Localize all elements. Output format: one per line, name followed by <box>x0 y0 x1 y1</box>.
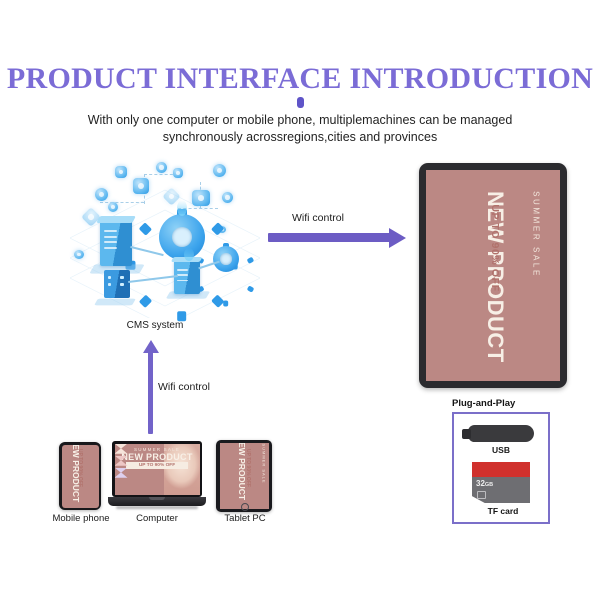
network-node-icon <box>173 168 183 178</box>
wifi-control-label-vertical: Wifi control <box>158 381 210 393</box>
device-label-mobile-phone: Mobile phone <box>52 513 110 524</box>
laptop-shadow <box>116 506 198 509</box>
cms-system-label: CMS system <box>105 320 205 331</box>
data-node-icon <box>133 178 149 194</box>
laptop-discount-text: UP TO 90% OFF <box>126 462 187 469</box>
computer-device: SUMMER SALE NEW PRODUCT UP TO 90% OFF <box>108 441 206 513</box>
plug-and-play-box: USB 32GB TF card <box>452 412 550 524</box>
tf-card-icon: 32GB <box>472 462 530 503</box>
device-label-computer: Computer <box>128 513 186 524</box>
tf-card-label: TF card <box>464 506 542 516</box>
display-discount-text: UP TO 90% OFF <box>489 188 501 308</box>
tf-capacity: 32GB <box>476 479 493 488</box>
document-node-icon <box>192 190 210 206</box>
network-node-icon <box>108 202 118 212</box>
usb-drive-icon <box>468 425 534 442</box>
wifi-control-arrow-horizontal <box>268 233 390 242</box>
subtitle-line-1: With only one computer or mobile phone, … <box>88 113 457 127</box>
plug-and-play-title: Plug-and-Play <box>452 398 515 409</box>
cloud-node-icon <box>95 188 108 201</box>
cloud-node-icon <box>74 250 84 259</box>
cloud-node-icon <box>213 164 226 177</box>
tablet-pc-device: NEW PRODUCT UP TO 90% OFF SUMMER SALE <box>216 440 272 512</box>
infographic-canvas: PRODUCT INTERFACE INTRODUCTION With only… <box>0 0 600 600</box>
display-screen: NEW PRODUCT UP TO 90% OFF SUMMER SALE <box>426 170 560 381</box>
gear-icon <box>213 246 239 272</box>
wifi-control-label-horizontal: Wifi control <box>292 212 344 224</box>
digital-signage-display: NEW PRODUCT UP TO 90% OFF SUMMER SALE <box>419 163 567 388</box>
tablet-summer-sale-text: SUMMER SALE <box>261 443 266 500</box>
router-icon <box>104 270 130 298</box>
wifi-control-arrow-vertical <box>148 352 153 434</box>
laptop-base <box>108 497 206 506</box>
network-node-icon <box>115 166 127 178</box>
display-summer-sale-text: SUMMER SALE <box>532 175 541 295</box>
title-accent-dot <box>297 97 304 108</box>
phone-discount-text: UP TO 90% OFF <box>77 445 83 498</box>
gear-glow <box>177 200 187 216</box>
microsd-mark-icon <box>477 491 486 499</box>
laptop-lid: SUMMER SALE NEW PRODUCT UP TO 90% OFF <box>112 441 202 497</box>
laptop-screen: SUMMER SALE NEW PRODUCT UP TO 90% OFF <box>115 444 200 495</box>
page-title: PRODUCT INTERFACE INTRODUCTION <box>0 62 600 96</box>
device-label-tablet-pc: Tablet PC <box>216 513 274 524</box>
network-node-icon <box>156 162 167 173</box>
server-icon <box>100 220 132 266</box>
tablet-discount-text: UP TO 90% OFF <box>245 443 251 504</box>
cms-system-illustration <box>70 158 260 318</box>
router-plinth <box>94 299 136 306</box>
network-node-icon <box>222 192 233 203</box>
server-icon <box>174 260 200 294</box>
connector-line <box>100 202 144 203</box>
gear-icon <box>159 214 205 260</box>
mobile-phone-device: NEW PRODUCT UP TO 90% OFF <box>59 442 101 510</box>
usb-label: USB <box>468 445 534 455</box>
phone-screen: NEW PRODUCT UP TO 90% OFF <box>62 445 99 508</box>
page-subtitle: With only one computer or mobile phone, … <box>80 112 520 146</box>
tablet-screen: NEW PRODUCT UP TO 90% OFF SUMMER SALE <box>220 443 269 509</box>
server-glow <box>184 248 194 261</box>
